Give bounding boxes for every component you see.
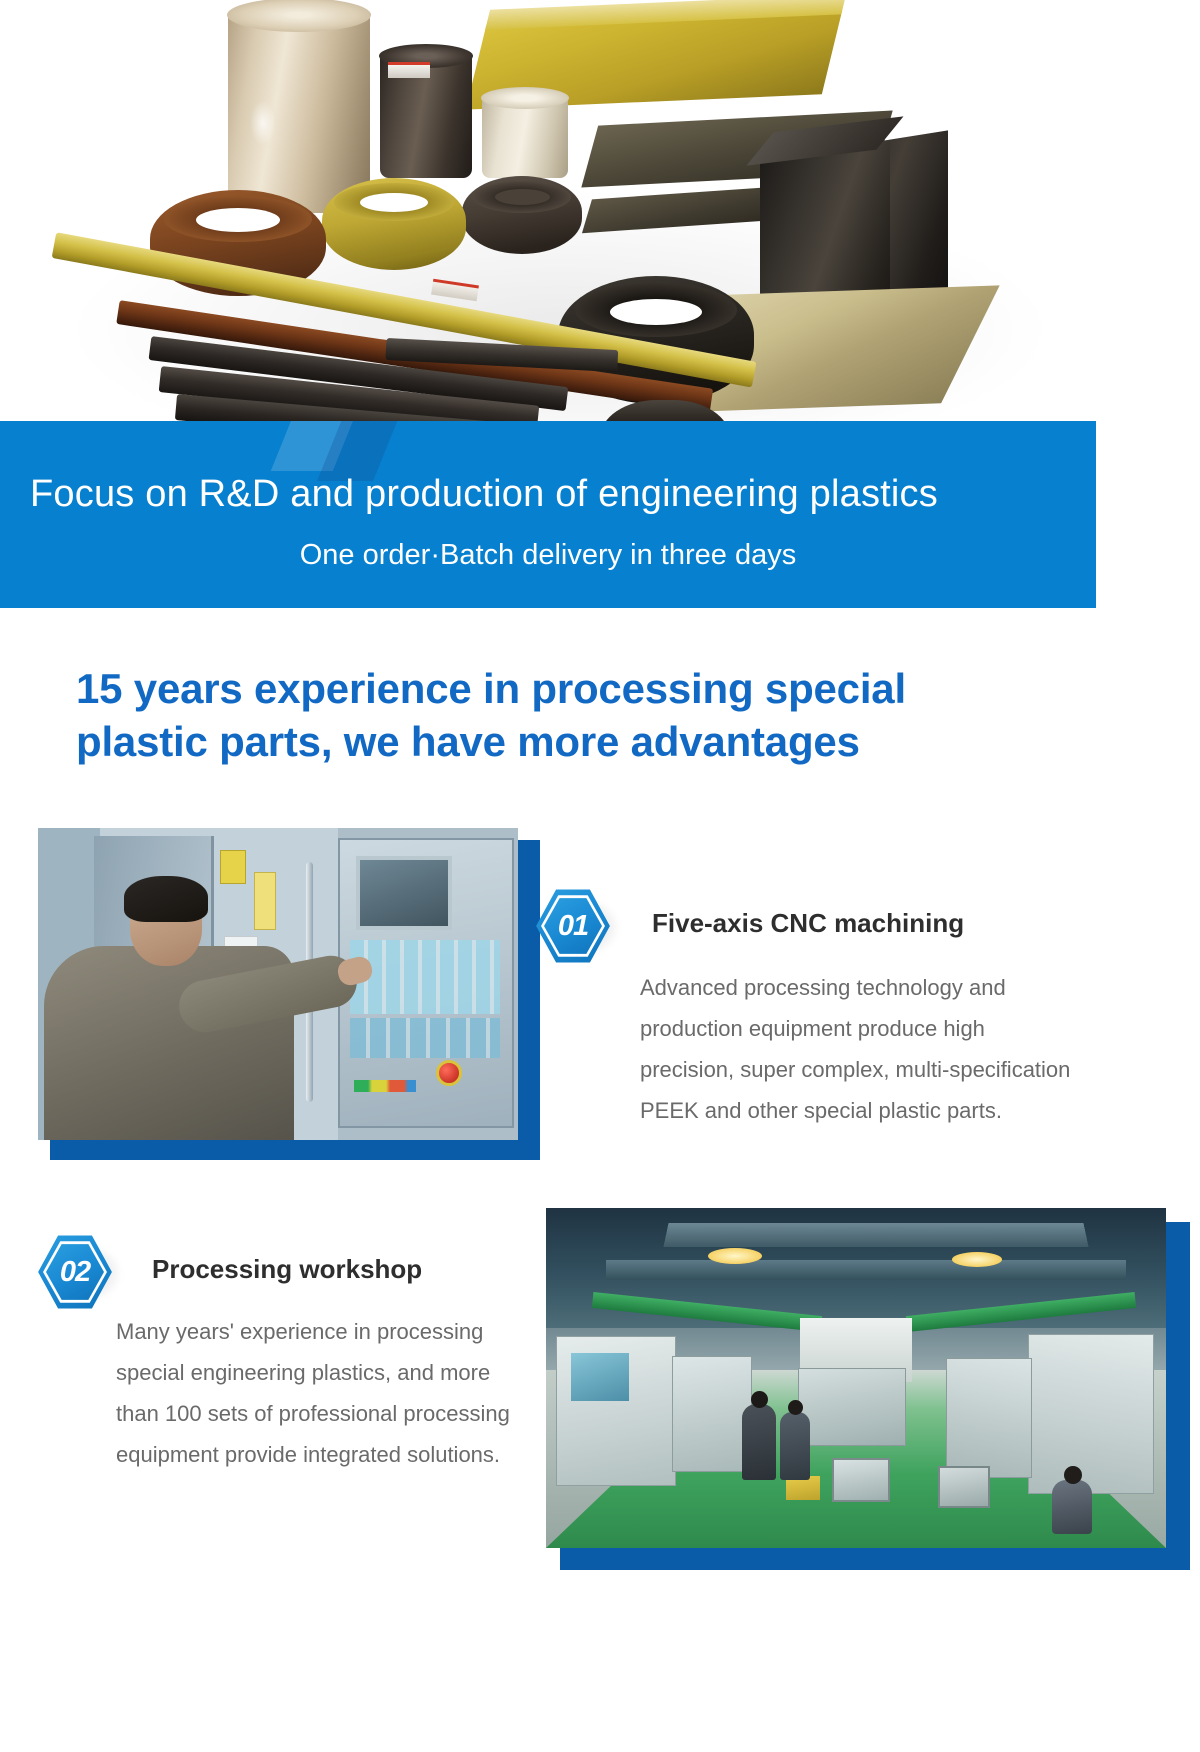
feature-01-photo-frame: [38, 828, 528, 1148]
workshop-duct-2: [606, 1260, 1126, 1280]
machine-window: [571, 1353, 629, 1401]
feature-02-photo-frame: [546, 1208, 1176, 1556]
workshop-machine-center: [798, 1368, 906, 1446]
cnc-keypad-lower: [350, 1018, 500, 1058]
feature-02-title: Processing workshop: [152, 1254, 422, 1285]
workshop-lamp-2: [952, 1252, 1002, 1267]
product-dark-ring: [462, 176, 582, 254]
section-heading-line-1: 15 years experience in processing specia…: [76, 663, 1076, 716]
warning-label-yellow-2: [254, 872, 276, 930]
feature-02-body: Many years' experience in processing spe…: [116, 1312, 536, 1476]
operator-hair: [124, 876, 208, 922]
workshop-worker-3: [1052, 1480, 1092, 1534]
hero-product-photo: [0, 0, 1200, 428]
hero-stage: [0, 0, 1200, 428]
product-tan-cylinder: [228, 8, 370, 213]
workshop-lamp-1: [708, 1248, 762, 1264]
product-label-a: [388, 62, 430, 78]
banner-subheadline: One order·Batch delivery in three days: [0, 539, 1096, 572]
banner-headline: Focus on R&D and production of engineeri…: [30, 473, 1070, 516]
product-brass-ring: [322, 178, 466, 270]
feature-01-title: Five-axis CNC machining: [652, 908, 964, 939]
section-heading: 15 years experience in processing specia…: [76, 663, 1076, 769]
workshop-machine-left-2: [672, 1356, 752, 1472]
feature-02-image: [546, 1208, 1166, 1548]
product-label-b: [431, 279, 479, 302]
cnc-screen: [356, 856, 452, 930]
feature-02-badge: 02: [38, 1234, 112, 1310]
cnc-keypad: [350, 940, 500, 1014]
workshop-cart-2: [938, 1466, 990, 1508]
workshop-duct-1: [663, 1223, 1088, 1247]
feature-01-image: [38, 828, 518, 1140]
workshop-machine-right-2: [946, 1358, 1032, 1478]
warning-label-yellow: [220, 850, 246, 884]
feature-01-badge: 01: [536, 888, 610, 964]
workshop-worker-1: [742, 1404, 776, 1480]
section-heading-line-2: plastic parts, we have more advantages: [76, 716, 1076, 769]
workshop-machine-left-1: [556, 1336, 676, 1486]
product-cream-cylinder: [482, 96, 568, 178]
workshop-machine-right-1: [1028, 1334, 1154, 1494]
cnc-indicator-lights: [354, 1080, 416, 1092]
emergency-stop-button: [436, 1060, 462, 1086]
feature-01-body: Advanced processing technology and produ…: [640, 968, 1080, 1132]
workshop-worker-2: [780, 1412, 810, 1480]
workshop-cart-1: [832, 1458, 890, 1502]
headline-banner: Focus on R&D and production of engineeri…: [0, 421, 1096, 608]
